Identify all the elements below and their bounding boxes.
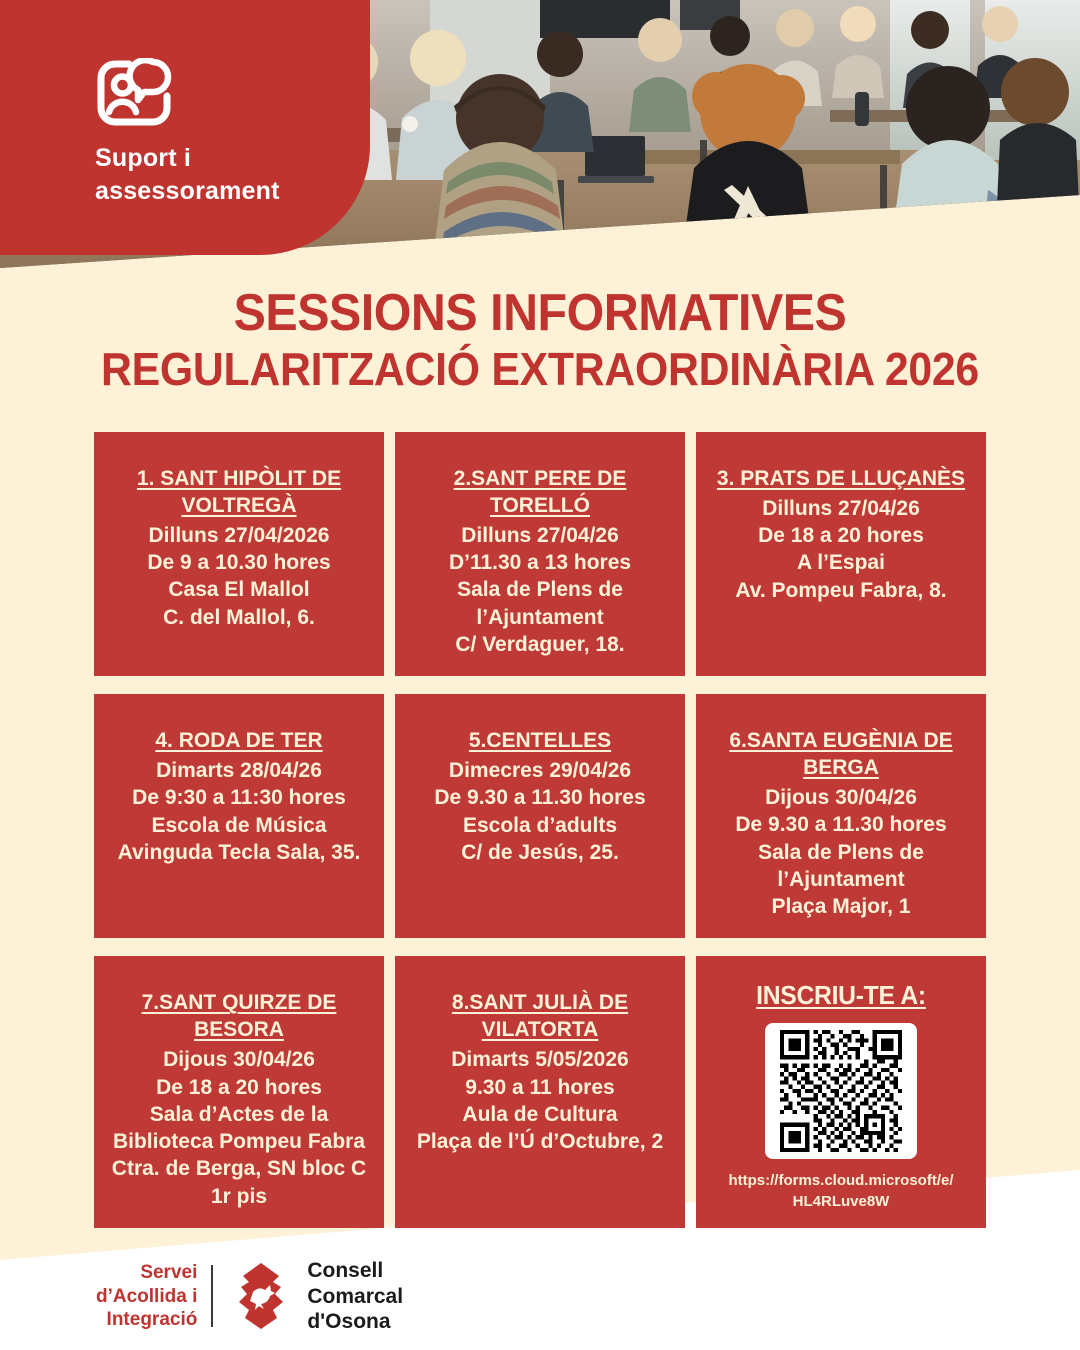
session-line: l’Ajuntament	[710, 866, 972, 893]
sessions-grid: 1. SANT HIPÒLIT DE VOLTREGÀ Dilluns 27/0…	[94, 432, 986, 1228]
session-line: Dimecres 29/04/26	[409, 757, 671, 784]
session-card-5[interactable]: 5.CENTELLES Dimecres 29/04/26 De 9.30 a …	[395, 694, 685, 938]
page-title: SESSIONS INFORMATIVES REGULARITZACIÓ EXT…	[0, 286, 1080, 396]
session-line: l’Ajuntament	[409, 604, 671, 631]
session-title: 7.SANT QUIRZE DE BESORA	[108, 990, 370, 1044]
session-line: De 18 a 20 hores	[710, 522, 972, 549]
session-title: 6.SANTA EUGÈNIA DE BERGA	[710, 728, 972, 782]
session-line: C/ Verdaguer, 18.	[409, 631, 671, 658]
brand-line-2: assessorament	[95, 177, 280, 205]
session-line: Dijous 30/04/26	[710, 784, 972, 811]
signup-url[interactable]: https://forms.cloud.microsoft/e/ HL4RLuv…	[710, 1171, 972, 1212]
title-line-2: REGULARITZACIÓ EXTRAORDINÀRIA 2026	[38, 343, 1042, 395]
footer-divider	[211, 1265, 213, 1327]
session-line: Dimarts 28/04/26	[108, 757, 370, 784]
session-line: De 9.30 a 11.30 hores	[710, 811, 972, 838]
session-line: Sala de Plens de	[710, 839, 972, 866]
session-line: De 18 a 20 hores	[108, 1074, 370, 1101]
footer-logos: Servei d’Acollida i Integració Consell C…	[96, 1258, 403, 1335]
qr-code-matrix	[776, 1030, 906, 1152]
session-line: D’11.30 a 13 hores	[409, 549, 671, 576]
session-card-2[interactable]: 2.SANT PERE DE TORELLÓ Dilluns 27/04/26 …	[395, 432, 685, 676]
session-line: De 9.30 a 11.30 hores	[409, 784, 671, 811]
session-line: Plaça Major, 1	[710, 893, 972, 920]
consell-comarcal-logo-text: Consell Comarcal d'Osona	[307, 1258, 403, 1335]
session-title: 3. PRATS DE LLUÇANÈS	[710, 466, 972, 493]
session-line: Casa El Mallol	[108, 576, 370, 603]
session-card-8[interactable]: 8.SANT JULIÀ DE VILATORTA Dimarts 5/05/2…	[395, 956, 685, 1228]
session-line: Dimarts 5/05/2026	[409, 1046, 671, 1073]
session-line: 9.30 a 11 hores	[409, 1074, 671, 1101]
people-chat-icon	[95, 58, 181, 128]
session-line: Avinguda Tecla Sala, 35.	[108, 839, 370, 866]
brand-name: Suport i assessorament	[95, 142, 385, 208]
session-line: Dilluns 27/04/26	[409, 522, 671, 549]
session-line: C. del Mallol, 6.	[108, 604, 370, 631]
session-line: C/ de Jesús, 25.	[409, 839, 671, 866]
session-title: 1. SANT HIPÒLIT DE VOLTREGÀ	[108, 466, 370, 520]
session-line: Ctra. de Berga, SN bloc C	[108, 1155, 370, 1182]
signup-url-line-1: https://forms.cloud.microsoft/e/	[728, 1172, 953, 1189]
signup-card[interactable]: INSCRIU-TE A:	[696, 956, 986, 1228]
session-line: De 9 a 10.30 hores	[108, 549, 370, 576]
signup-heading: INSCRIU-TE A:	[717, 980, 966, 1011]
osona-diamond-emblem-icon	[229, 1262, 293, 1330]
session-title: 2.SANT PERE DE TORELLÓ	[409, 466, 671, 520]
session-card-6[interactable]: 6.SANTA EUGÈNIA DE BERGA Dijous 30/04/26…	[696, 694, 986, 938]
servei-acollida-logo-text: Servei d’Acollida i Integració	[96, 1261, 211, 1332]
session-title: 8.SANT JULIÀ DE VILATORTA	[409, 990, 671, 1044]
session-card-4[interactable]: 4. RODA DE TER Dimarts 28/04/26 De 9:30 …	[94, 694, 384, 938]
session-line: Sala d’Actes de la	[108, 1101, 370, 1128]
session-line: Dijous 30/04/26	[108, 1046, 370, 1073]
session-card-1[interactable]: 1. SANT HIPÒLIT DE VOLTREGÀ Dilluns 27/0…	[94, 432, 384, 676]
session-line: Biblioteca Pompeu Fabra	[108, 1128, 370, 1155]
session-line: De 9:30 a 11:30 hores	[108, 784, 370, 811]
brand-line-1: Suport i	[95, 144, 191, 172]
session-line: Plaça de l’Ú d’Octubre, 2	[409, 1128, 671, 1155]
qr-code-icon[interactable]	[765, 1023, 917, 1159]
session-card-7[interactable]: 7.SANT QUIRZE DE BESORA Dijous 30/04/26 …	[94, 956, 384, 1228]
session-card-3[interactable]: 3. PRATS DE LLUÇANÈS Dilluns 27/04/26 De…	[696, 432, 986, 676]
session-line: Aula de Cultura	[409, 1101, 671, 1128]
signup-url-line-2: HL4RLuve8W	[793, 1193, 890, 1210]
session-title: 4. RODA DE TER	[108, 728, 370, 755]
session-line: Escola de Música	[108, 812, 370, 839]
session-line: 1r pis	[108, 1183, 370, 1210]
session-line: Dilluns 27/04/2026	[108, 522, 370, 549]
brand-block: Suport i assessorament	[95, 58, 385, 208]
session-line: Av. Pompeu Fabra, 8.	[710, 577, 972, 604]
session-line: A l’Espai	[710, 549, 972, 576]
title-line-1: SESSIONS INFORMATIVES	[38, 286, 1042, 341]
session-line: Dilluns 27/04/26	[710, 495, 972, 522]
session-line: Sala de Plens de	[409, 576, 671, 603]
session-title: 5.CENTELLES	[409, 728, 671, 755]
session-line: Escola d’adults	[409, 812, 671, 839]
